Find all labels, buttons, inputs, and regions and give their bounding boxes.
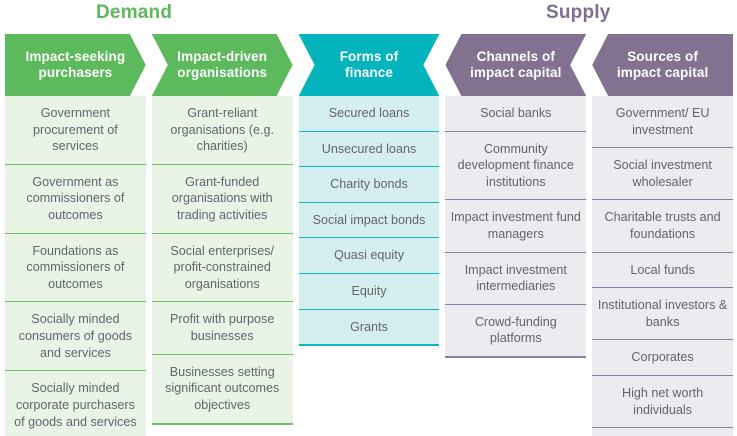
column-body-sources-of-impact-capital: Government/ EU investment Social investm… bbox=[592, 96, 733, 436]
column-impact-driven-organisations: Impact-driven organisations Grant-relian… bbox=[152, 34, 293, 425]
section-title-demand: Demand bbox=[96, 2, 172, 24]
list-item[interactable]: Profit with purpose businesses bbox=[152, 302, 293, 354]
column-forms-of-finance: Forms of finance Secured loans Unsecured… bbox=[299, 34, 440, 346]
impact-investment-ecosystem-diagram: Demand Supply Impact-seeking purchasers … bbox=[0, 0, 737, 436]
section-title-supply: Supply bbox=[546, 2, 611, 24]
list-item[interactable]: Crowd-funding platforms bbox=[445, 305, 586, 358]
column-body-impact-seeking-purchasers: Government procurement of services Gover… bbox=[5, 96, 146, 436]
column-body-channels-of-impact-capital: Social banks Community development finan… bbox=[445, 96, 586, 358]
list-item[interactable]: Quasi equity bbox=[299, 238, 440, 274]
list-item[interactable]: Socially minded corporate purchasers of … bbox=[5, 371, 146, 436]
list-item[interactable]: Secured loans bbox=[299, 96, 440, 132]
list-item[interactable]: Social impact bonds bbox=[299, 203, 440, 239]
list-item[interactable]: Foundations as commissioners of outcomes bbox=[5, 234, 146, 303]
column-header-impact-seeking-purchasers[interactable]: Impact-seeking purchasers bbox=[5, 34, 146, 96]
list-item[interactable]: Community development finance institutio… bbox=[445, 132, 586, 201]
column-channels-of-impact-capital: Channels of impact capital Social banks … bbox=[445, 34, 586, 358]
list-item[interactable]: Impact investment fund managers bbox=[445, 200, 586, 252]
column-header-forms-of-finance[interactable]: Forms of finance bbox=[299, 34, 440, 96]
list-item[interactable]: Mass retail bbox=[592, 428, 733, 436]
list-item[interactable]: Institutional investors & banks bbox=[592, 288, 733, 340]
list-item[interactable]: Government as commissioners of outcomes bbox=[5, 165, 146, 234]
column-sources-of-impact-capital: Sources of impact capital Government/ EU… bbox=[592, 34, 733, 436]
list-item[interactable]: Government procurement of services bbox=[5, 96, 146, 165]
list-item[interactable]: Government/ EU investment bbox=[592, 96, 733, 148]
list-item[interactable]: Businesses setting significant outcomes … bbox=[152, 355, 293, 425]
list-item[interactable]: Charitable trusts and foundations bbox=[592, 200, 733, 252]
list-item[interactable]: Charity bonds bbox=[299, 167, 440, 203]
list-item[interactable]: Grants bbox=[299, 310, 440, 347]
column-impact-seeking-purchasers: Impact-seeking purchasers Government pro… bbox=[5, 34, 146, 436]
column-header-sources-of-impact-capital[interactable]: Sources of impact capital bbox=[592, 34, 733, 96]
list-item[interactable]: Social investment wholesaler bbox=[592, 148, 733, 200]
list-item[interactable]: Social enterprises/ profit-constrained o… bbox=[152, 234, 293, 303]
column-body-forms-of-finance: Secured loans Unsecured loans Charity bo… bbox=[299, 96, 440, 346]
list-item[interactable]: Social banks bbox=[445, 96, 586, 132]
list-item[interactable]: Impact investment intermediaries bbox=[445, 253, 586, 305]
list-item[interactable]: Equity bbox=[299, 274, 440, 310]
list-item[interactable]: Unsecured loans bbox=[299, 132, 440, 168]
list-item[interactable]: Grant-funded organisations with trading … bbox=[152, 165, 293, 234]
columns-container: Impact-seeking purchasers Government pro… bbox=[5, 34, 733, 436]
list-item[interactable]: Corporates bbox=[592, 340, 733, 376]
column-header-impact-driven-organisations[interactable]: Impact-driven organisations bbox=[152, 34, 293, 96]
column-header-channels-of-impact-capital[interactable]: Channels of impact capital bbox=[445, 34, 586, 96]
column-body-impact-driven-organisations: Grant-reliant organisations (e.g. charit… bbox=[152, 96, 293, 425]
list-item[interactable]: Socially minded consumers of goods and s… bbox=[5, 302, 146, 371]
list-item[interactable]: Grant-reliant organisations (e.g. charit… bbox=[152, 96, 293, 165]
list-item[interactable]: High net worth individuals bbox=[592, 376, 733, 428]
list-item[interactable]: Local funds bbox=[592, 253, 733, 289]
